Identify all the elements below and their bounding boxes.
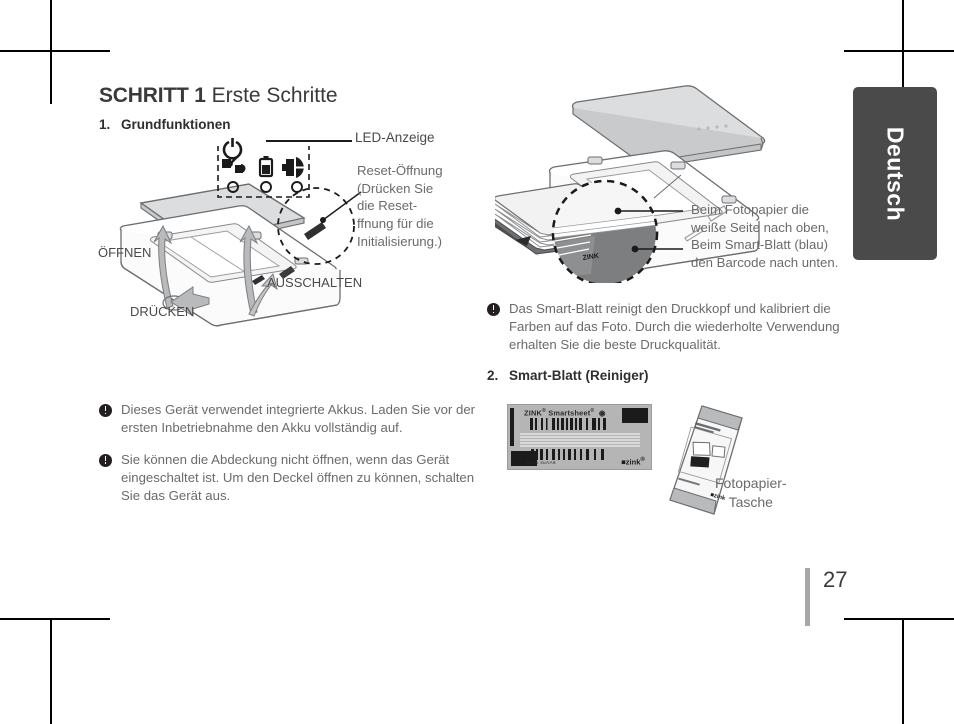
label-press: DRÜCKEN bbox=[130, 304, 194, 319]
label-reset-opening: Reset-Öffnung (Drücken Sie die Reset- ff… bbox=[357, 162, 487, 250]
bullet-text: Dieses Gerät verwendet integrierte Akkus… bbox=[121, 401, 479, 437]
crop-mark-bottom-left-v bbox=[50, 620, 52, 724]
smartsheet-fine-print: %U% suAA6 bbox=[526, 460, 556, 465]
language-tab: Deutsch bbox=[853, 87, 937, 260]
led-hole-1 bbox=[228, 182, 238, 192]
page-number: 27 bbox=[823, 567, 847, 593]
led-hole-2 bbox=[261, 182, 271, 192]
callout-paper-orientation: Beim Fotopapier die weiße Seite nach obe… bbox=[691, 201, 863, 272]
step-title-light: Erste Schritte bbox=[212, 84, 338, 107]
warning-icon bbox=[99, 404, 112, 417]
media-row: ZINK® Smartsheet® ◉ bbox=[500, 396, 870, 526]
figure-device-open: LED-Anzeige Reset-Öffnung (Drücken Sie d… bbox=[99, 146, 479, 351]
section-label-2: Smart-Blatt (Reiniger) bbox=[509, 368, 649, 383]
crop-mark-bottom-right-v bbox=[902, 620, 904, 724]
label-power-off: AUSSCHALTEN bbox=[267, 275, 362, 290]
left-column: SCHRITT 1 Erste Schritte 1. Grundfunktio… bbox=[99, 84, 479, 518]
battery-icon bbox=[260, 156, 272, 176]
label-photo-paper-pouch: Fotopapier- Tasche bbox=[715, 474, 787, 512]
figure-paper-loading: ZINK Beim Fotopapier die weiße Seite nac… bbox=[495, 78, 865, 283]
warning-icon bbox=[487, 303, 500, 316]
crop-mark-top-left-v bbox=[50, 0, 52, 104]
led-leader-line bbox=[266, 140, 352, 142]
zink-smartsheet-card: ZINK® Smartsheet® ◉ bbox=[507, 404, 652, 470]
page-number-bar bbox=[805, 568, 810, 626]
right-column: Das Smart-Blatt reinigt den Druckkopf un… bbox=[487, 300, 862, 383]
crop-mark-top-left-h bbox=[0, 50, 110, 52]
led-icons bbox=[218, 135, 309, 197]
language-tab-label: Deutsch bbox=[882, 126, 909, 220]
bullet-text: Das Smart-Blatt reinigt den Druckkopf un… bbox=[509, 300, 862, 355]
power-charge-icon bbox=[222, 138, 246, 173]
step-title-strong: SCHRITT 1 bbox=[99, 84, 206, 107]
page-title: SCHRITT 1 Erste Schritte bbox=[99, 84, 479, 107]
section-label-1: Grundfunktionen bbox=[121, 117, 230, 132]
section-heading-2: 2. Smart-Blatt (Reiniger) bbox=[487, 368, 862, 383]
led-indicator-panel bbox=[218, 135, 309, 197]
warning-icon bbox=[99, 454, 112, 467]
left-bullet-list: Dieses Gerät verwendet integrierte Akkus… bbox=[99, 401, 479, 505]
section-number-1: 1. bbox=[99, 117, 113, 132]
label-led-anzeige: LED-Anzeige bbox=[355, 130, 435, 145]
led-hole-3 bbox=[292, 182, 302, 192]
zink-logo: ■zink® bbox=[621, 456, 645, 467]
section-number-2: 2. bbox=[487, 368, 501, 383]
bullet-item: Das Smart-Blatt reinigt den Druckkopf un… bbox=[487, 300, 862, 355]
bullet-item: Sie können die Abdeckung nicht öffnen, w… bbox=[99, 451, 479, 506]
manual-page: SCHRITT 1 Erste Schritte 1. Grundfunktio… bbox=[0, 0, 954, 671]
bullet-item: Dieses Gerät verwendet integrierte Akkus… bbox=[99, 401, 479, 437]
crop-mark-bottom-left-h bbox=[0, 618, 110, 620]
connect-icon bbox=[282, 157, 304, 178]
label-open: ÖFFNEN bbox=[98, 245, 151, 260]
crop-mark-bottom-right-h bbox=[844, 618, 954, 620]
right-bullet-list: Das Smart-Blatt reinigt den Druckkopf un… bbox=[487, 300, 862, 355]
crop-mark-top-right-h bbox=[844, 50, 954, 52]
bullet-text: Sie können die Abdeckung nicht öffnen, w… bbox=[121, 451, 479, 506]
